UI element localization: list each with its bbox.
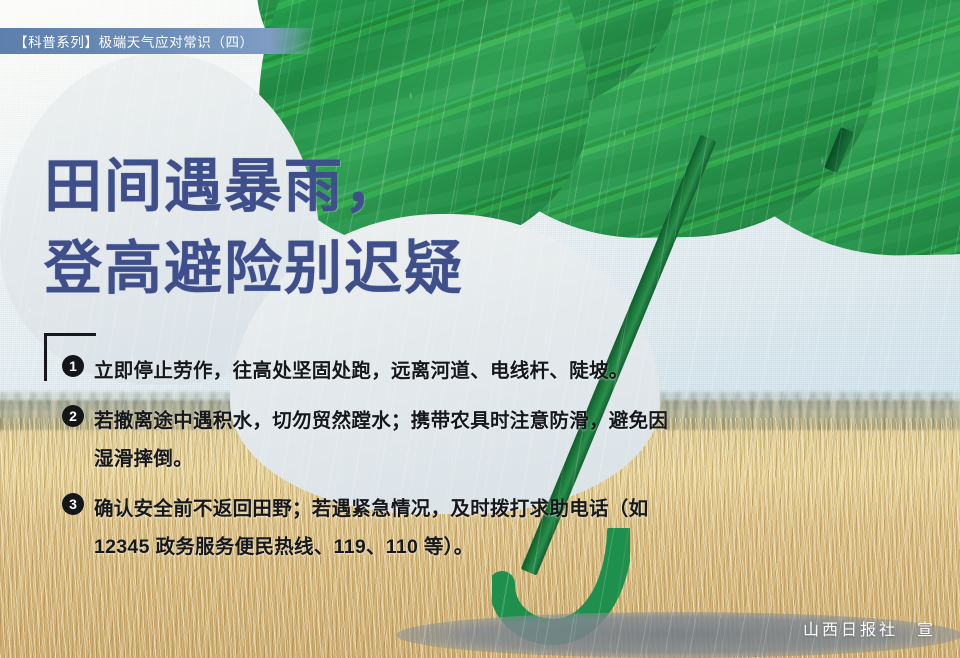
- tips-list: 1 立即停止劳作，往高处坚固处跑，远离河道、电线杆、陡坡。 2 若撤离途中遇积水…: [62, 352, 702, 578]
- list-item: 2 若撤离途中遇积水，切勿贸然蹚水；携带农具时注意防滑，避免因湿滑摔倒。: [62, 402, 702, 478]
- publisher-credit: 山西日报社 宣: [803, 616, 936, 640]
- list-item-text: 确认安全前不返回田野；若遇紧急情况，及时拨打求助电话（如 12345 政务服务便…: [94, 490, 669, 566]
- poster-canvas: 【科普系列】极端天气应对常识（四） 田间遇暴雨， 登高避险别迟疑 1 立即停止劳…: [0, 0, 960, 658]
- list-item-text: 立即停止劳作，往高处坚固处跑，远离河道、电线杆、陡坡。: [94, 352, 629, 390]
- page-title: 田间遇暴雨， 登高避险别迟疑: [44, 146, 464, 311]
- list-marker-1: 1: [62, 355, 84, 377]
- list-item: 1 立即停止劳作，往高处坚固处跑，远离河道、电线杆、陡坡。: [62, 352, 702, 390]
- list-marker-2: 2: [62, 405, 84, 427]
- title-line-1: 田间遇暴雨，: [44, 146, 464, 228]
- title-line-2: 登高避险别迟疑: [44, 228, 464, 310]
- list-item: 3 确认安全前不返回田野；若遇紧急情况，及时拨打求助电话（如 12345 政务服…: [62, 490, 702, 566]
- list-marker-3: 3: [62, 493, 84, 515]
- series-badge: 【科普系列】极端天气应对常识（四）: [0, 28, 270, 54]
- badge-fade-tail: [270, 28, 316, 54]
- list-item-text: 若撤离途中遇积水，切勿贸然蹚水；携带农具时注意防滑，避免因湿滑摔倒。: [94, 402, 669, 478]
- header-badge-row: 【科普系列】极端天气应对常识（四）: [0, 28, 960, 54]
